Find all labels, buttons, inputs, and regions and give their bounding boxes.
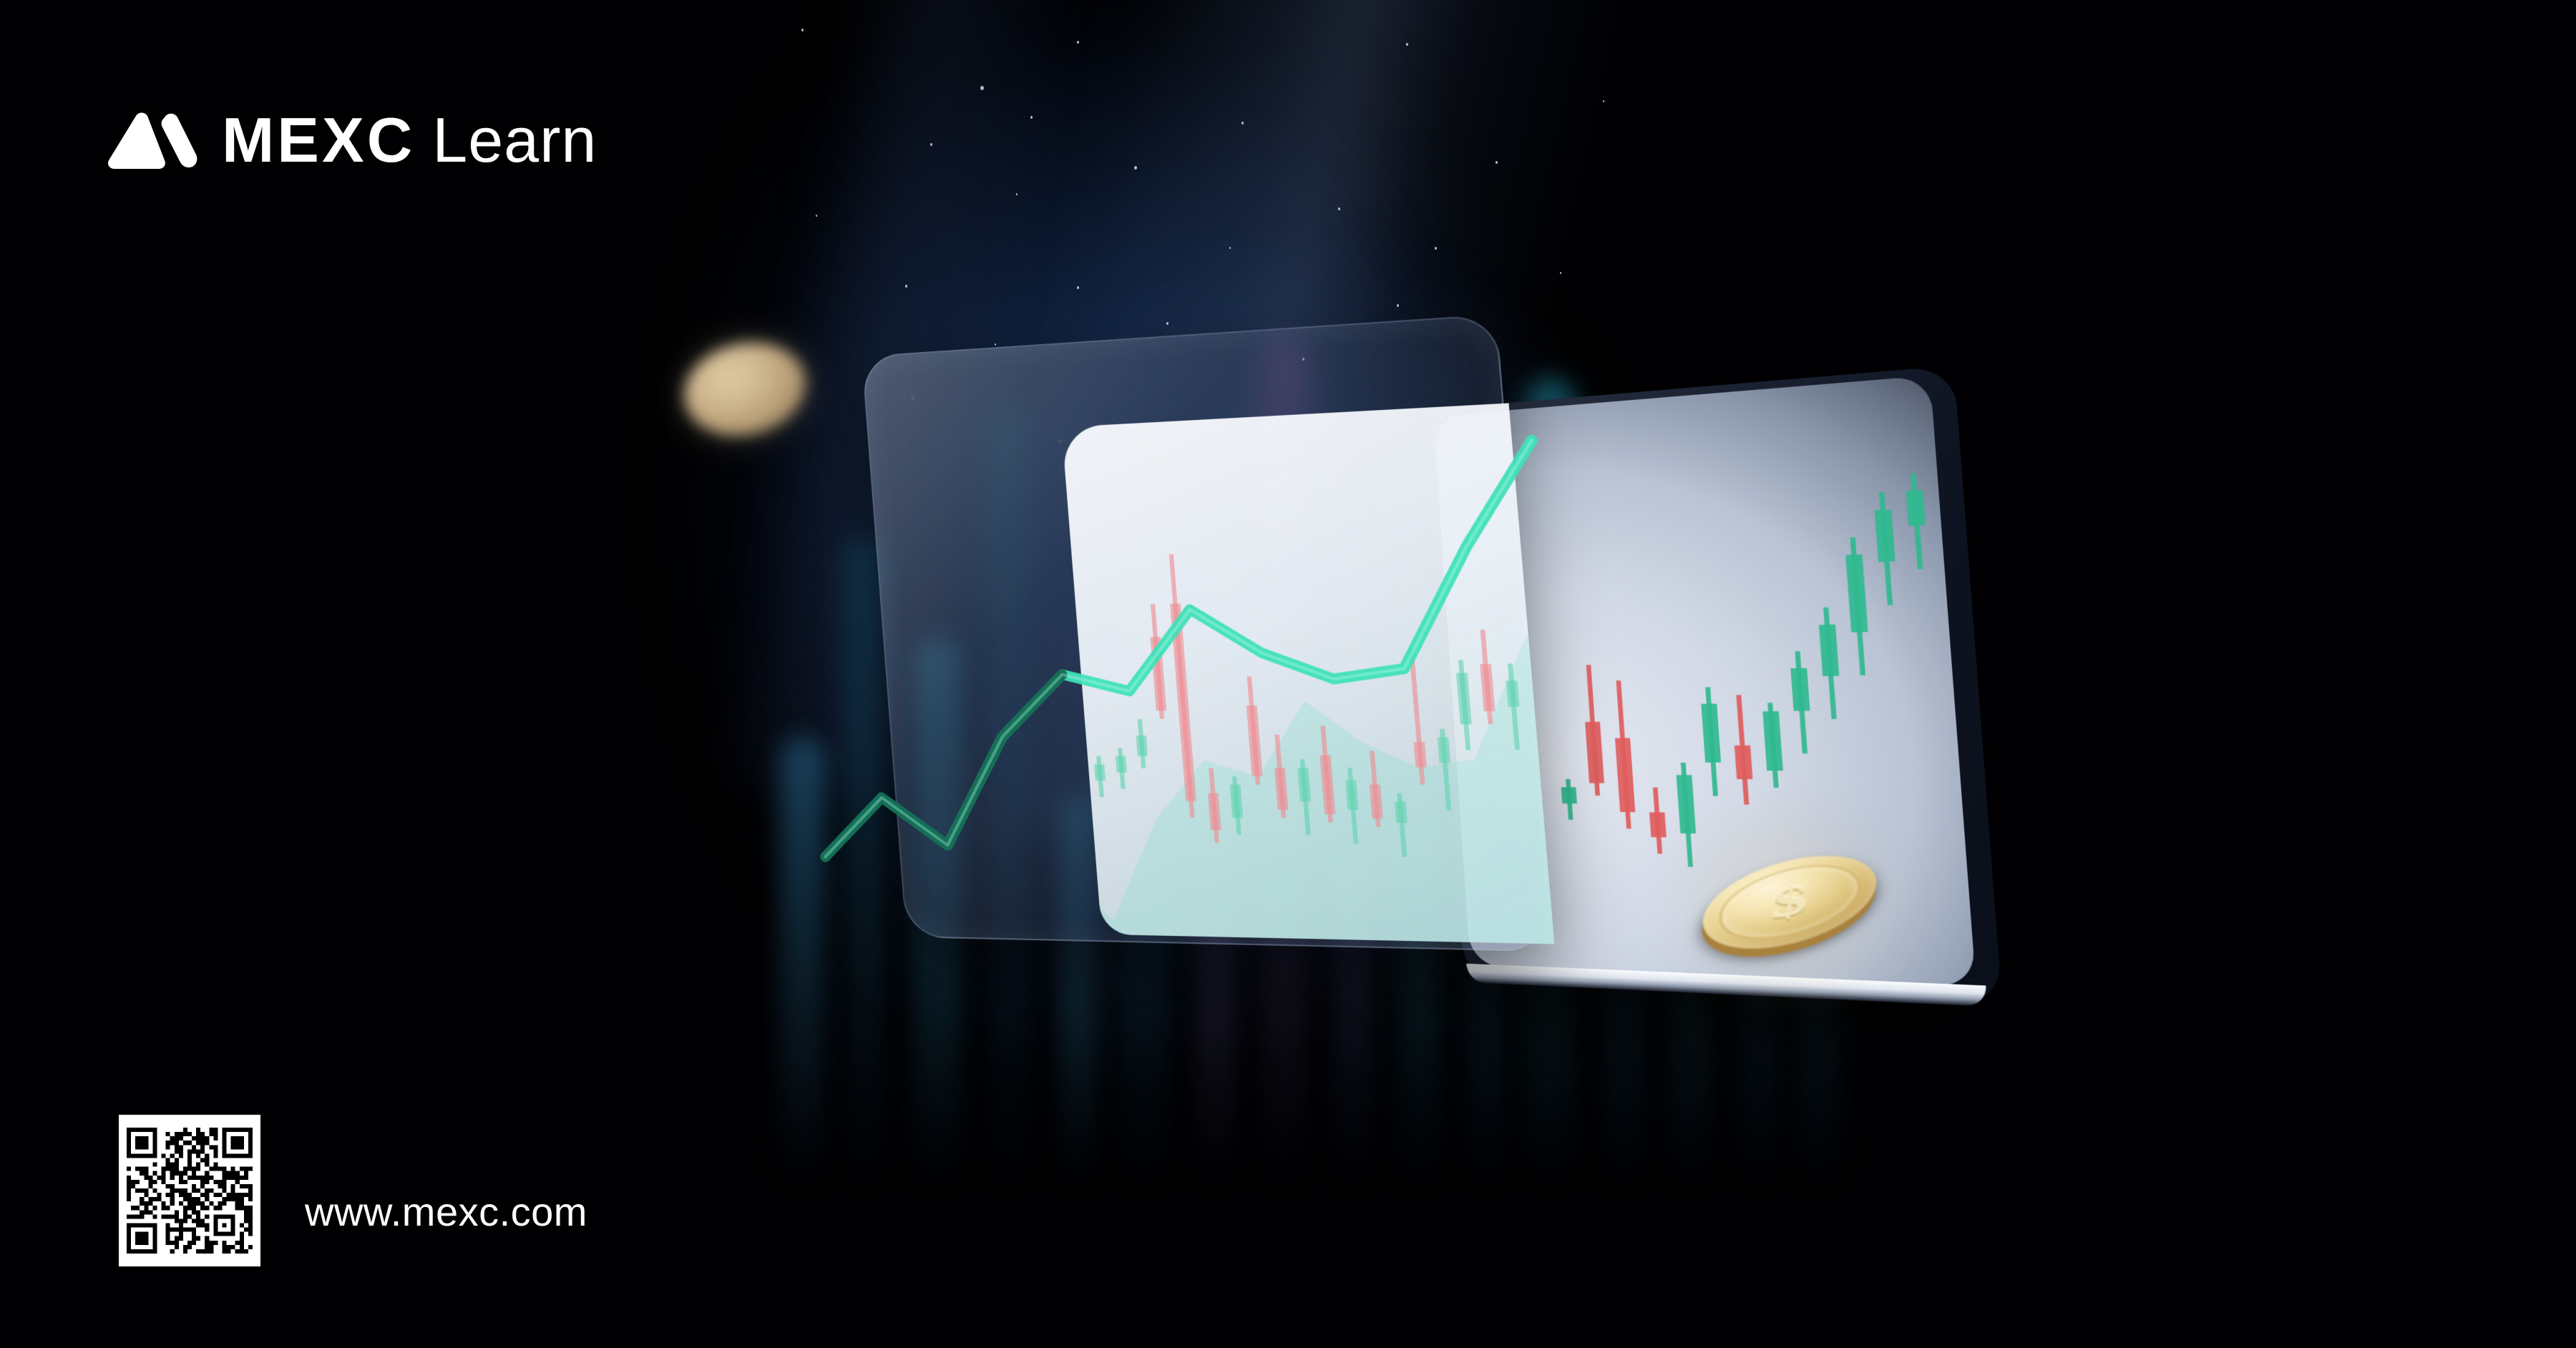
background-star [801, 29, 804, 31]
front-glass-panel [862, 314, 1550, 952]
background-star [1496, 161, 1498, 164]
background-star [1077, 286, 1079, 289]
promo-banner: $ MEXC Learn www.mexc.com [0, 0, 2576, 1348]
background-star [1166, 322, 1169, 325]
background-star [816, 215, 817, 217]
background-star [1435, 247, 1437, 250]
qr-code-modules [127, 1121, 253, 1260]
background-star [1077, 41, 1079, 44]
background-star [980, 86, 984, 90]
mexc-triangle-icon [106, 110, 200, 170]
background-star [1603, 100, 1604, 102]
background-star [1229, 247, 1231, 249]
background-star [1134, 166, 1137, 170]
background-star [1016, 193, 1018, 195]
background-star [1560, 272, 1561, 274]
background-star [1241, 122, 1244, 124]
brand-wordmark: MEXC Learn [222, 109, 597, 172]
brand-name-light: Learn [432, 109, 597, 172]
qr-code[interactable] [119, 1115, 260, 1266]
background-star [905, 285, 907, 288]
background-star [1406, 43, 1408, 46]
front-trend-line [862, 314, 1550, 952]
background-star [1397, 304, 1399, 307]
brand-logo[interactable]: MEXC Learn [106, 109, 597, 172]
background-star [995, 343, 996, 346]
background-star [930, 143, 932, 146]
background-star [1338, 207, 1340, 210]
footer: www.mexc.com [119, 1115, 587, 1266]
brand-name-bold: MEXC [222, 109, 415, 172]
background-star [1030, 116, 1033, 119]
website-url: www.mexc.com [305, 1188, 587, 1235]
